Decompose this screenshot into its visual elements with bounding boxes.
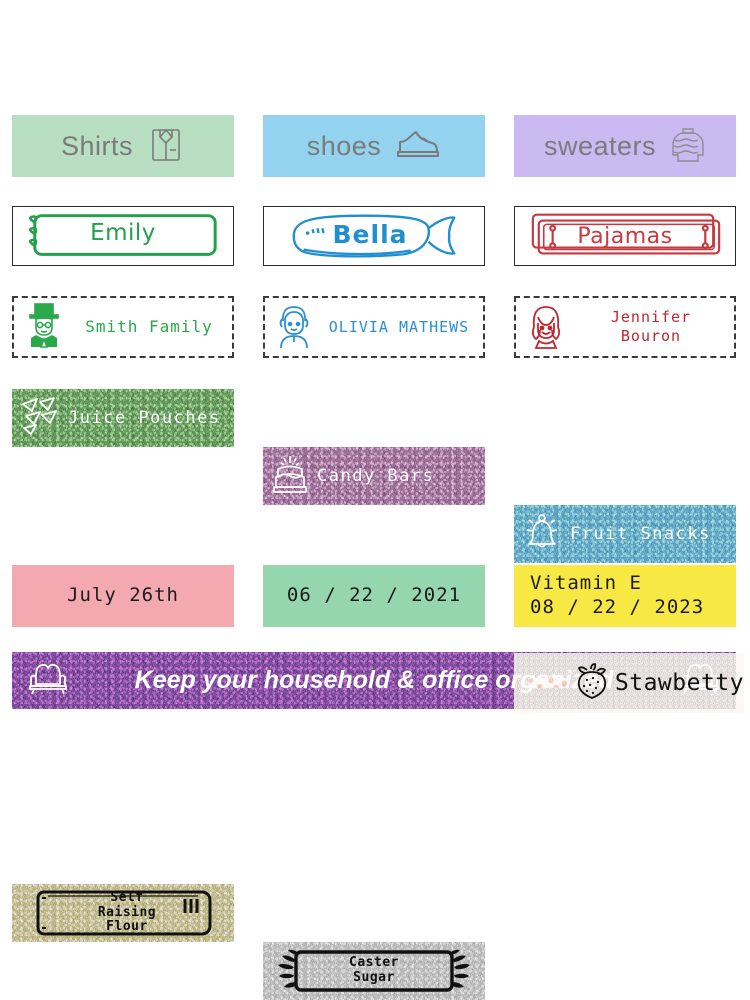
- label-shoes-text: shoes: [307, 133, 382, 160]
- flour-line-3: Flour: [98, 920, 156, 935]
- label-fruit-snacks-text: Fruit Snacks: [570, 526, 711, 543]
- label-date-06-22-2021-text: 06 / 22 / 2021: [287, 584, 461, 608]
- vitamin-line-1: Vitamin E: [530, 572, 642, 594]
- label-emily[interactable]: Emily: [12, 206, 234, 266]
- label-jennifer-bouron-text: Jennifer Bouron: [578, 308, 724, 346]
- bell-icon: [522, 511, 562, 558]
- label-sweaters[interactable]: sweaters: [514, 115, 736, 177]
- girl-face-icon: [526, 301, 566, 354]
- vitamin-line-2: 08 / 22 / 2023: [530, 596, 704, 618]
- label-jennifer-bouron[interactable]: Jennifer Bouron: [514, 296, 736, 358]
- label-self-raising-flour[interactable]: Self Raising Flour: [12, 884, 234, 942]
- bunting-flags-icon: [20, 396, 60, 441]
- label-caster-sugar[interactable]: Caster Sugar: [263, 942, 485, 1000]
- label-juice-pouches[interactable]: Juice Pouches: [12, 389, 234, 447]
- name-line-1: Jennifer: [611, 308, 691, 326]
- label-self-raising-flour-text: Self Raising Flour: [12, 884, 234, 942]
- sweater-icon: [670, 123, 706, 170]
- label-caster-sugar-text: Caster Sugar: [263, 942, 485, 1000]
- spiral-notebook-frame: Emily: [13, 207, 233, 265]
- label-olivia-mathews[interactable]: OLIVIA MATHEWS: [263, 296, 485, 358]
- flour-line-2: Raising: [98, 906, 156, 921]
- label-fruit-snacks[interactable]: Fruit Snacks: [514, 505, 736, 563]
- label-candy-bars[interactable]: Candy Bars: [263, 447, 485, 505]
- sugar-line-1: Caster: [349, 956, 399, 971]
- folded-shirt-icon: [147, 124, 185, 169]
- label-vitamin-e[interactable]: Vitamin E 08 / 22 / 2023: [514, 565, 736, 627]
- label-july-26th[interactable]: July 26th: [12, 565, 234, 627]
- label-juice-pouches-text: Juice Pouches: [68, 410, 221, 427]
- sneaker-icon: [395, 126, 441, 167]
- birthday-cake-icon: [271, 452, 309, 501]
- label-stawbetty-text: Stawbetty: [615, 672, 744, 695]
- label-candy-bars-text: Candy Bars: [317, 468, 434, 485]
- sofa-icon: [26, 660, 70, 701]
- whale-frame: Bella: [264, 207, 484, 265]
- label-july-26th-text: July 26th: [67, 584, 179, 608]
- stacked-cards-frame: Pajamas: [515, 207, 735, 265]
- label-shoes[interactable]: shoes: [263, 115, 485, 177]
- label-shirts-text: Shirts: [61, 133, 133, 160]
- label-shirts[interactable]: Shirts: [12, 115, 234, 177]
- label-olivia-mathews-text: OLIVIA MATHEWS: [325, 318, 473, 337]
- label-pajamas-text: Pajamas: [515, 224, 735, 249]
- strawberry-icon: [575, 663, 609, 704]
- boy-face-icon: [275, 301, 313, 354]
- flour-line-1: Self: [98, 891, 156, 906]
- label-date-06-22-2021[interactable]: 06 / 22 / 2021: [263, 565, 485, 627]
- label-vitamin-e-text: Vitamin E 08 / 22 / 2023: [530, 572, 704, 620]
- strawberry-pattern-background: [528, 678, 569, 689]
- gentleman-tophat-icon: [24, 301, 64, 354]
- name-line-2: Bouron: [621, 327, 681, 345]
- label-bella[interactable]: Bella: [263, 206, 485, 266]
- label-emily-text: Emily: [13, 220, 233, 246]
- label-pajamas[interactable]: Pajamas: [514, 206, 736, 266]
- label-smith-family[interactable]: Smith Family: [12, 296, 234, 358]
- label-bella-text: Bella: [263, 220, 480, 249]
- label-samples-sheet: Shirts shoes sweaters: [0, 0, 750, 796]
- label-sweaters-text: sweaters: [544, 133, 656, 160]
- label-smith-family-text: Smith Family: [76, 317, 222, 337]
- sugar-line-2: Sugar: [349, 971, 399, 986]
